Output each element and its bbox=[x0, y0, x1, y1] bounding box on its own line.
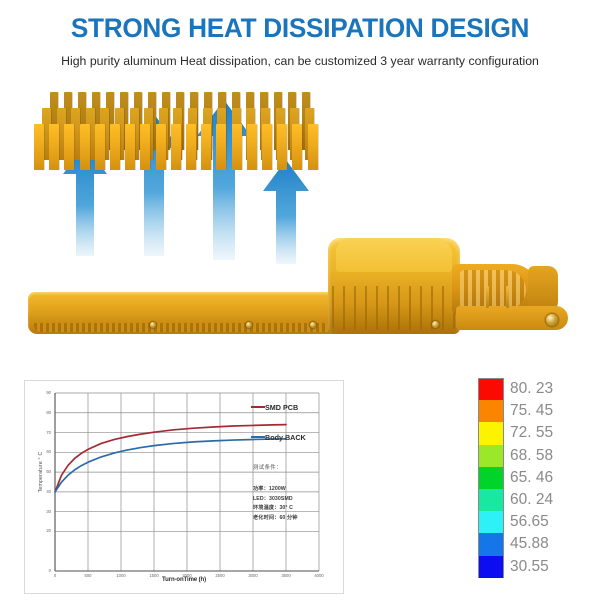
base-screw-1 bbox=[150, 322, 156, 328]
legend-label-body-back: Body BACK bbox=[265, 433, 306, 442]
thermal-scale-value: 60. 24 bbox=[510, 492, 553, 508]
chart-y-tick: 90 bbox=[25, 391, 51, 395]
test-condition-item: 老化时间：60 分钟 bbox=[253, 514, 298, 521]
chart-x-tick: 1000 bbox=[110, 574, 132, 578]
chart-y-tick: 50 bbox=[25, 470, 51, 474]
legend-swatch-smd-pcb bbox=[251, 406, 265, 408]
bracket-bolt bbox=[546, 314, 558, 326]
test-condition-item: LED：3030SMD bbox=[253, 495, 293, 502]
heatsink-fin bbox=[140, 124, 150, 170]
chart-x-tick: 0 bbox=[44, 574, 66, 578]
heatsink-fin bbox=[156, 124, 166, 170]
chart-plot-area: Temperature ° C Turn-onTime (h) 02030405… bbox=[25, 381, 343, 593]
legend-swatch-body-back bbox=[251, 436, 265, 438]
thermal-scale-band bbox=[478, 378, 504, 401]
thermal-scale-band bbox=[478, 467, 504, 489]
chart-y-tick: 60 bbox=[25, 450, 51, 454]
thermal-color-scale: 80. 2375. 4572. 5568. 5865. 4660. 2456.6… bbox=[478, 378, 596, 588]
heatsink-fin bbox=[216, 124, 226, 170]
thermal-scale-value: 72. 55 bbox=[510, 425, 553, 441]
thermal-scale-band bbox=[478, 511, 504, 533]
chart-y-tick: 80 bbox=[25, 411, 51, 415]
bracket-pin-right bbox=[506, 286, 509, 308]
thermal-scale-value: 80. 23 bbox=[510, 381, 553, 397]
chart-x-tick: 1500 bbox=[143, 574, 165, 578]
page-title: STRONG HEAT DISSIPATION DESIGN bbox=[9, 14, 591, 42]
bracket-pin-left bbox=[486, 286, 489, 308]
chart-y-tick: 30 bbox=[25, 510, 51, 514]
heatsink-fin bbox=[171, 124, 181, 170]
product-photo bbox=[0, 92, 600, 372]
heatsink-fin bbox=[201, 124, 211, 170]
thermal-scale-band bbox=[478, 422, 504, 444]
chart-series-body-back bbox=[55, 439, 286, 492]
thermal-test-chart: Temperature ° C Turn-onTime (h) 02030405… bbox=[24, 380, 344, 594]
chart-x-tick: 3000 bbox=[242, 574, 264, 578]
thermal-scale-value: 30.55 bbox=[510, 559, 549, 575]
chart-x-tick: 4000 bbox=[308, 574, 330, 578]
thermal-scale-value: 65. 46 bbox=[510, 470, 553, 486]
heatsink-fin bbox=[125, 124, 135, 170]
thermal-scale-value: 68. 58 bbox=[510, 448, 553, 464]
heatsink-fin bbox=[186, 124, 196, 170]
luminaire-body bbox=[28, 184, 578, 334]
base-screw-2 bbox=[246, 322, 252, 328]
base-screw-3 bbox=[310, 322, 316, 328]
heatsink-fin bbox=[80, 124, 90, 170]
driver-screw-1 bbox=[432, 321, 439, 328]
heatsink-fin bbox=[34, 124, 44, 170]
heatsink-fin bbox=[49, 124, 59, 170]
thermal-scale-value: 45.88 bbox=[510, 536, 549, 552]
heatsink-fin bbox=[232, 124, 242, 170]
test-conditions-title: 测试条件： bbox=[253, 463, 282, 471]
header: STRONG HEAT DISSIPATION DESIGN High puri… bbox=[0, 0, 600, 68]
chart-y-tick: 0 bbox=[25, 569, 51, 573]
mounting-neck-grooves bbox=[460, 270, 526, 310]
chart-y-tick: 20 bbox=[25, 529, 51, 533]
heatsink-fin bbox=[247, 124, 257, 170]
chart-x-tick: 3500 bbox=[275, 574, 297, 578]
thermal-scale-value: 75. 45 bbox=[510, 403, 553, 419]
heatsink-fin bbox=[262, 124, 272, 170]
product-feature-page: STRONG HEAT DISSIPATION DESIGN High puri… bbox=[0, 0, 600, 600]
thermal-scale-band bbox=[478, 533, 504, 555]
thermal-scale-value: 56.65 bbox=[510, 514, 549, 530]
thermal-scale-band bbox=[478, 489, 504, 511]
chart-svg bbox=[25, 381, 343, 593]
driver-housing-lid bbox=[336, 238, 452, 272]
thermal-scale-band bbox=[478, 400, 504, 422]
legend-label-smd-pcb: SMD PCB bbox=[265, 403, 298, 412]
chart-x-tick: 500 bbox=[77, 574, 99, 578]
chart-y-tick: 70 bbox=[25, 431, 51, 435]
heatsink-fin bbox=[277, 124, 287, 170]
chart-series-smd-pcb bbox=[55, 425, 286, 492]
housing-base-edge bbox=[34, 323, 334, 332]
chart-y-tick: 40 bbox=[25, 490, 51, 494]
thermal-scale-band bbox=[478, 445, 504, 467]
heatsink-fin bbox=[110, 124, 120, 170]
heatsink-fin bbox=[308, 124, 318, 170]
chart-x-tick: 2500 bbox=[209, 574, 231, 578]
page-subtitle: High purity aluminum Heat dissipation, c… bbox=[0, 54, 600, 68]
test-condition-item: 环境温度：30° C bbox=[253, 504, 293, 511]
thermal-scale-band bbox=[478, 556, 504, 578]
heatsink-fin bbox=[95, 124, 105, 170]
heatsink-fin bbox=[64, 124, 74, 170]
heatsink-fin bbox=[292, 124, 302, 170]
test-condition-item: 功率：1200W bbox=[253, 485, 286, 492]
chart-x-tick: 2000 bbox=[176, 574, 198, 578]
